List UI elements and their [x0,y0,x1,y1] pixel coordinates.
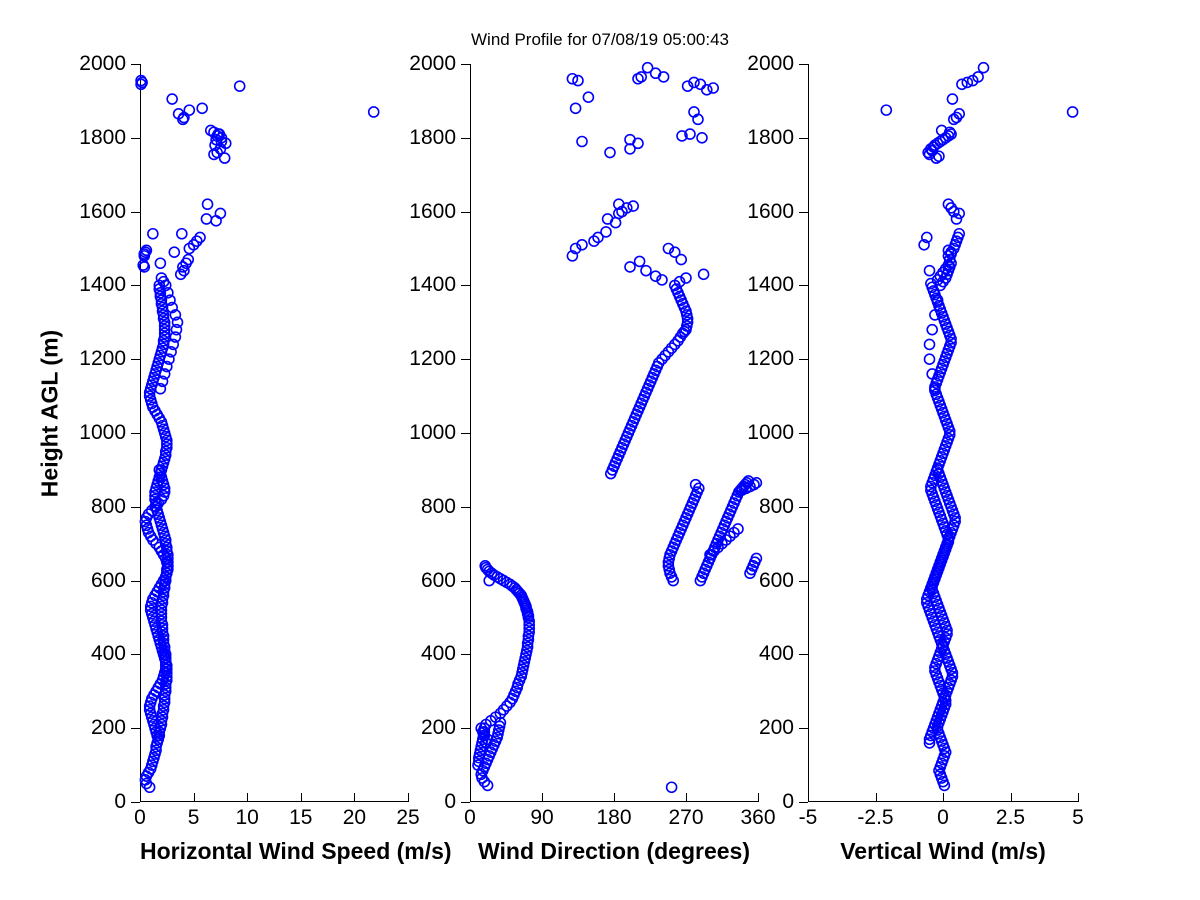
y-tick-label: 1400 [409,273,456,297]
x-tick-label: 270 [668,806,703,830]
x-tick-label: 5 [1072,806,1084,830]
y-tick [131,212,140,213]
data-point [148,229,158,239]
x-tick-label: 90 [530,806,553,830]
data-point [583,92,593,102]
y-tick-label: 1400 [747,273,794,297]
y-tick [799,64,808,65]
x-tick-label: 180 [596,806,631,830]
data-point [947,94,957,104]
panel-wind-direction: 0200400600800100012001400160018002000090… [470,64,758,802]
x-tick-label: 15 [289,806,312,830]
y-tick-label: 1600 [409,200,456,224]
y-tick-label: 600 [759,569,794,593]
x-tick-label: -2.5 [857,806,893,830]
x-tick-label: 10 [236,806,259,830]
y-tick-label: 600 [91,569,126,593]
y-tick-label: 1400 [79,273,126,297]
data-point [203,199,213,209]
y-tick [799,507,808,508]
x-tick [408,793,409,802]
y-tick-label: 0 [114,790,126,814]
y-tick [461,359,470,360]
data-point [169,247,179,257]
y-tick [461,64,470,65]
y-tick-label: 0 [782,790,794,814]
y-tick [799,285,808,286]
wind-profile-figure: Wind Profile for 07/08/19 05:00:43 Heigh… [0,0,1200,900]
y-axis-title: Height AGL (m) [37,304,64,524]
x-tick [1078,793,1079,802]
data-point [641,266,651,276]
data-point [695,79,705,89]
y-tick-label: 800 [759,495,794,519]
x-tick-label: 0 [464,806,476,830]
y-tick-label: 400 [91,642,126,666]
data-point [925,266,935,276]
data-point [927,325,937,335]
y-tick [461,581,470,582]
data-point [1068,107,1078,117]
data-point [197,103,207,113]
y-tick [131,802,140,803]
data-point [235,81,245,91]
x-tick [758,793,759,802]
y-tick [461,728,470,729]
y-tick-label: 200 [91,716,126,740]
y-tick-label: 800 [421,495,456,519]
y-tick [799,138,808,139]
x-axis-title: Vertical Wind (m/s) [808,838,1078,865]
y-tick-label: 200 [421,716,456,740]
data-point [601,227,611,237]
y-tick [799,212,808,213]
data-point [573,76,583,86]
data-point [155,258,165,268]
data-point [708,83,718,93]
y-tick-label: 1200 [79,347,126,371]
y-tick [799,654,808,655]
panel-horizontal-wind-speed: 0200400600800100012001400160018002000051… [140,64,408,802]
data-markers [808,64,1078,802]
y-tick [799,433,808,434]
y-tick-label: 1800 [409,126,456,150]
y-tick [131,433,140,434]
x-tick-label: 25 [396,806,419,830]
data-point [605,148,615,158]
data-point [577,136,587,146]
y-tick [799,728,808,729]
data-point [636,72,646,82]
y-tick [799,802,808,803]
y-tick-label: 800 [91,495,126,519]
y-tick [131,285,140,286]
data-point [177,229,187,239]
y-tick-label: 1200 [409,347,456,371]
data-point [220,153,230,163]
figure-title: Wind Profile for 07/08/19 05:00:43 [0,30,1200,50]
data-point [925,354,935,364]
y-tick-label: 1000 [747,421,794,445]
y-tick-label: 0 [444,790,456,814]
data-point [184,105,194,115]
data-point [925,339,935,349]
data-point [934,151,944,161]
y-tick-label: 2000 [747,52,794,76]
y-tick [461,212,470,213]
data-point [676,255,686,265]
x-tick-label: 0 [134,806,146,830]
y-tick [131,64,140,65]
y-tick-label: 200 [759,716,794,740]
y-tick-label: 600 [421,569,456,593]
data-point [667,782,677,792]
data-point [881,105,891,115]
x-tick-label: 5 [188,806,200,830]
data-point [628,201,638,211]
data-point [659,72,669,82]
y-tick-label: 1000 [79,421,126,445]
y-tick-label: 1600 [747,200,794,224]
y-tick-label: 1200 [747,347,794,371]
data-point [369,107,379,117]
data-point [697,133,707,143]
panel-vertical-wind: 0200400600800100012001400160018002000-5-… [808,64,1078,802]
y-tick [461,654,470,655]
y-tick-label: 2000 [409,52,456,76]
data-markers [470,64,758,802]
data-point [625,262,635,272]
x-axis-title: Wind Direction (degrees) [470,838,758,865]
y-tick [799,581,808,582]
y-tick [131,581,140,582]
x-tick-label: 2.5 [996,806,1025,830]
data-point [167,94,177,104]
y-tick [131,507,140,508]
y-tick [461,433,470,434]
data-point [702,85,712,95]
x-tick-label: 360 [740,806,775,830]
y-tick [131,654,140,655]
y-tick [461,802,470,803]
y-tick [461,507,470,508]
y-tick-label: 1800 [747,126,794,150]
y-tick-label: 1600 [79,200,126,224]
x-axis-title: Horizontal Wind Speed (m/s) [140,838,408,865]
y-tick [131,138,140,139]
y-tick [131,359,140,360]
y-tick [461,138,470,139]
y-tick-label: 400 [421,642,456,666]
data-point [635,256,645,266]
y-tick-label: 1800 [79,126,126,150]
data-point [699,269,709,279]
data-markers [140,64,408,802]
y-tick-label: 400 [759,642,794,666]
data-point [979,63,989,73]
x-tick-label: 20 [343,806,366,830]
x-tick-label: 0 [937,806,949,830]
y-tick [131,728,140,729]
x-tick-label: -5 [799,806,818,830]
data-point [201,214,211,224]
y-tick-label: 2000 [79,52,126,76]
data-point [571,103,581,113]
y-tick [461,285,470,286]
y-tick-label: 1000 [409,421,456,445]
y-tick [799,359,808,360]
